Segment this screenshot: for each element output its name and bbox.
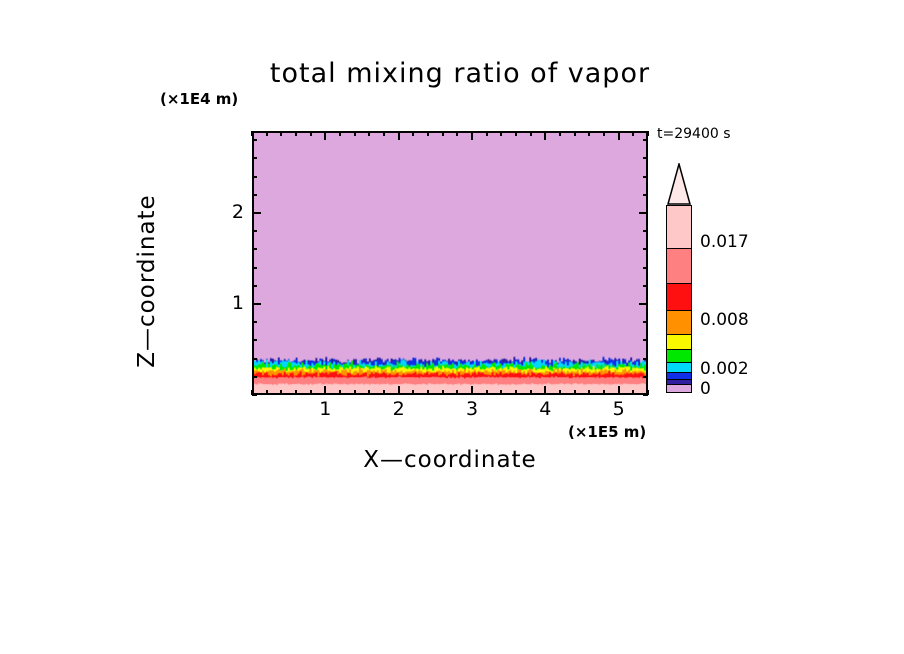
x-minor-tick-top: [280, 131, 282, 136]
y-minor-tick: [252, 339, 257, 341]
x-minor-tick: [368, 390, 370, 395]
x-minor-tick-top: [456, 131, 458, 136]
colorbar-bands: [666, 205, 692, 393]
x-minor-tick: [559, 390, 561, 395]
x-minor-tick: [486, 390, 488, 395]
x-minor-tick: [588, 390, 590, 395]
x-minor-tick: [515, 390, 517, 395]
y-minor-tick-right: [643, 394, 648, 396]
plot-area: [252, 131, 648, 395]
x-minor-tick-top: [632, 131, 634, 136]
x-minor-tick-top: [266, 131, 268, 136]
colorbar-tick-label: 0.017: [700, 232, 749, 252]
y-minor-tick-right: [643, 176, 648, 178]
colorbar-band: [667, 283, 691, 310]
y-minor-tick-right: [643, 376, 648, 378]
x-minor-tick-top: [368, 131, 370, 136]
x-minor-tick: [456, 390, 458, 395]
x-minor-tick-top: [310, 131, 312, 136]
y-minor-tick-right: [643, 285, 648, 287]
y-axis-title: Z—coordinate: [134, 166, 160, 396]
y-minor-tick: [252, 267, 257, 269]
y-minor-tick: [252, 139, 257, 141]
colorbar-band: [667, 334, 691, 349]
colorbar-band: [667, 384, 691, 392]
y-axis-unit-label: (×1E4 m): [160, 90, 238, 108]
y-minor-tick: [252, 358, 257, 360]
y-minor-tick: [252, 394, 257, 396]
x-minor-tick-top: [603, 131, 605, 136]
x-minor-tick: [339, 390, 341, 395]
y-minor-tick-right: [643, 157, 648, 159]
y-tick-label: 1: [226, 292, 244, 314]
x-minor-tick: [310, 390, 312, 395]
x-minor-tick-top: [559, 131, 561, 136]
y-minor-tick-right: [643, 194, 648, 196]
x-tick-label: 2: [384, 398, 414, 420]
x-major-tick: [544, 386, 546, 395]
y-minor-tick-right: [643, 139, 648, 141]
x-axis-title: X—coordinate: [250, 447, 650, 473]
x-minor-tick-top: [251, 131, 253, 136]
x-major-tick: [398, 386, 400, 395]
y-minor-tick: [252, 376, 257, 378]
x-minor-tick-top: [574, 131, 576, 136]
y-major-tick: [252, 303, 261, 305]
contour-field-canvas: [254, 133, 646, 393]
colorbar: [666, 163, 692, 393]
colorbar-tick-label: 0.008: [700, 310, 749, 330]
x-minor-tick: [266, 390, 268, 395]
x-minor-tick: [295, 390, 297, 395]
x-minor-tick: [574, 390, 576, 395]
x-minor-tick-top: [486, 131, 488, 136]
y-major-tick-right: [639, 212, 648, 214]
colorbar-band: [667, 248, 691, 283]
y-minor-tick-right: [643, 339, 648, 341]
x-major-tick: [324, 386, 326, 395]
x-minor-tick: [530, 390, 532, 395]
x-minor-tick: [354, 390, 356, 395]
x-minor-tick-top: [442, 131, 444, 136]
page-title: total mixing ratio of vapor: [240, 58, 680, 89]
x-major-tick-top: [544, 131, 546, 140]
x-minor-tick-top: [383, 131, 385, 136]
colorbar-band: [667, 206, 691, 248]
y-minor-tick: [252, 157, 257, 159]
x-minor-tick-top: [412, 131, 414, 136]
y-minor-tick: [252, 285, 257, 287]
x-minor-tick-top: [354, 131, 356, 136]
x-axis-unit-label: (×1E5 m): [568, 423, 646, 441]
x-minor-tick-top: [588, 131, 590, 136]
contour-plot-figure: total mixing ratio of vapor (×1E4 m) t=2…: [0, 0, 904, 654]
x-minor-tick: [603, 390, 605, 395]
y-minor-tick-right: [643, 230, 648, 232]
x-minor-tick: [427, 390, 429, 395]
colorbar-band: [667, 310, 691, 334]
x-tick-label: 1: [310, 398, 340, 420]
x-minor-tick: [632, 390, 634, 395]
x-tick-label: 5: [604, 398, 634, 420]
x-minor-tick-top: [427, 131, 429, 136]
x-minor-tick-top: [295, 131, 297, 136]
y-minor-tick-right: [643, 248, 648, 250]
colorbar-extend-arrow-icon: [666, 163, 692, 205]
x-minor-tick-top: [339, 131, 341, 136]
colorbar-band: [667, 362, 691, 372]
colorbar-band: [667, 349, 691, 362]
y-minor-tick-right: [643, 267, 648, 269]
x-tick-label: 3: [457, 398, 487, 420]
y-major-tick-right: [639, 303, 648, 305]
y-minor-tick: [252, 176, 257, 178]
x-minor-tick: [383, 390, 385, 395]
y-minor-tick: [252, 321, 257, 323]
x-minor-tick-top: [647, 131, 649, 136]
y-minor-tick-right: [643, 321, 648, 323]
x-minor-tick: [442, 390, 444, 395]
y-minor-tick: [252, 194, 257, 196]
x-major-tick: [618, 386, 620, 395]
colorbar-tick-label: 0.002: [700, 359, 749, 379]
timestamp-annotation: t=29400 s: [657, 126, 731, 142]
y-tick-label: 2: [226, 201, 244, 223]
x-tick-label: 4: [530, 398, 560, 420]
y-minor-tick-right: [643, 358, 648, 360]
colorbar-tick-label: 0: [700, 379, 711, 399]
x-minor-tick: [412, 390, 414, 395]
y-major-tick: [252, 212, 261, 214]
x-major-tick-top: [618, 131, 620, 140]
x-major-tick: [471, 386, 473, 395]
x-major-tick-top: [471, 131, 473, 140]
x-minor-tick-top: [515, 131, 517, 136]
y-minor-tick: [252, 248, 257, 250]
x-minor-tick-top: [500, 131, 502, 136]
y-minor-tick: [252, 230, 257, 232]
x-minor-tick-top: [530, 131, 532, 136]
x-major-tick-top: [398, 131, 400, 140]
x-minor-tick: [280, 390, 282, 395]
x-major-tick-top: [324, 131, 326, 140]
x-minor-tick: [500, 390, 502, 395]
